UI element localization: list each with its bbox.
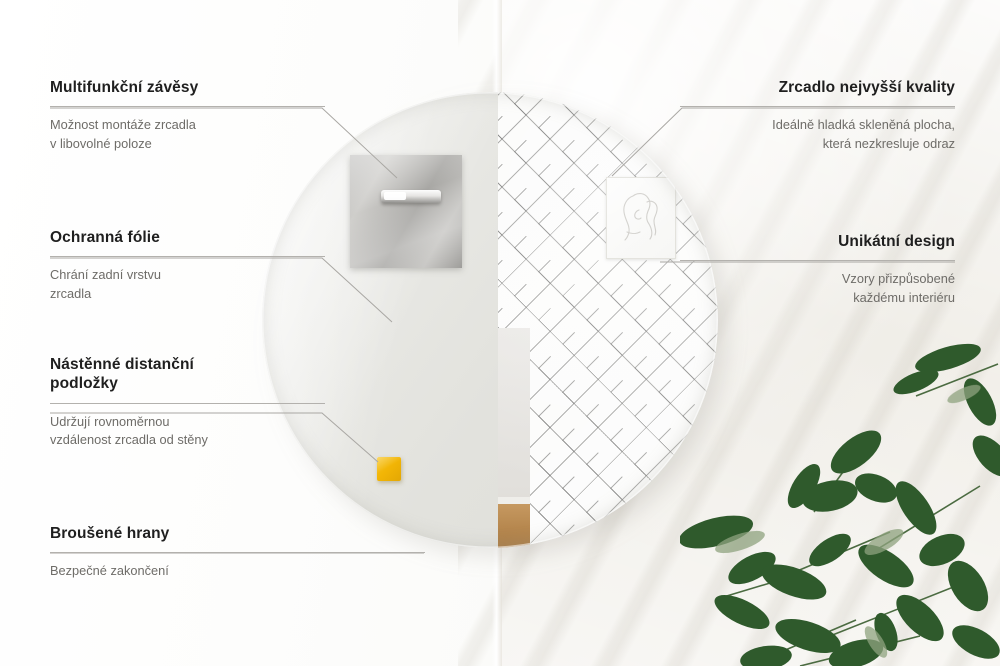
callout-body-line: Možnost montáže zrcadla (50, 117, 196, 132)
callout-title: Ochranná fólie (50, 228, 325, 247)
callout-zrcadlo-nejvyssi-kvality: Zrcadlo nejvyšší kvality Ideálně hladká … (680, 78, 955, 153)
callout-title: Zrcadlo nejvyšší kvality (680, 78, 955, 97)
plant-leaves (680, 336, 1000, 666)
callout-title-line: podložky (50, 375, 118, 392)
callout-body: Vzory přizpůsobené každému interiéru (680, 270, 955, 306)
callout-body-line: každému interiéru (853, 290, 955, 305)
callout-body: Ideálně hladká skleněná plocha, která ne… (680, 116, 955, 152)
infographic-canvas: Multifunkční závěsy Možnost montáže zrca… (0, 0, 1000, 666)
callout-body: Bezpečné zakončení (50, 562, 425, 580)
callout-body-line: Udržují rovnoměrnou (50, 414, 170, 429)
callout-body-line: vzdálenost zrcadla od stěny (50, 432, 208, 447)
callout-divider (50, 552, 425, 553)
callout-divider (50, 403, 325, 404)
callout-body-line: Chrání zadní vrstvu (50, 267, 161, 282)
callout-multifunkcni-zavesy: Multifunkční závěsy Možnost montáže zrca… (50, 78, 325, 153)
callout-title: Multifunkční závěsy (50, 78, 325, 97)
callout-body-line: která nezkresluje odraz (823, 136, 955, 151)
framed-line-art-reflection (606, 177, 676, 259)
callout-body-line: zrcadla (50, 286, 91, 301)
callout-body-line: Vzory přizpůsobené (842, 271, 955, 286)
callout-title: Broušené hrany (50, 524, 425, 543)
callout-divider (680, 260, 955, 261)
callout-body: Chrání zadní vrstvu zrcadla (50, 266, 325, 302)
callout-title-line: Nástěnné distanční (50, 356, 194, 373)
living-room-reflection (498, 328, 530, 548)
callout-ochranna-folie: Ochranná fólie Chrání zadní vrstvu zrcad… (50, 228, 325, 303)
callout-nastenne-distancni-podlozky: Nástěnné distanční podložky Udržují rovn… (50, 355, 325, 449)
callout-divider (50, 106, 325, 107)
callout-divider (50, 256, 325, 257)
callout-title: Nástěnné distanční podložky (50, 355, 325, 394)
callout-body-line: v libovolné poloze (50, 136, 152, 151)
callout-brousene-hrany: Broušené hrany Bezpečné zakončení (50, 524, 425, 581)
mirror-hanger-plate (350, 155, 462, 268)
callout-body-line: Bezpečné zakončení (50, 563, 169, 578)
callout-title: Unikátní design (680, 232, 955, 251)
callout-unikatni-design: Unikátní design Vzory přizpůsobené každé… (680, 232, 955, 307)
callout-body-line: Ideálně hladká skleněná plocha, (772, 117, 955, 132)
callout-body: Udržují rovnoměrnou vzdálenost zrcadla o… (50, 413, 325, 449)
round-mirror (262, 92, 718, 548)
wall-spacer-pad (377, 457, 401, 481)
callout-divider (680, 106, 955, 107)
callout-body: Možnost montáže zrcadla v libovolné polo… (50, 116, 325, 152)
